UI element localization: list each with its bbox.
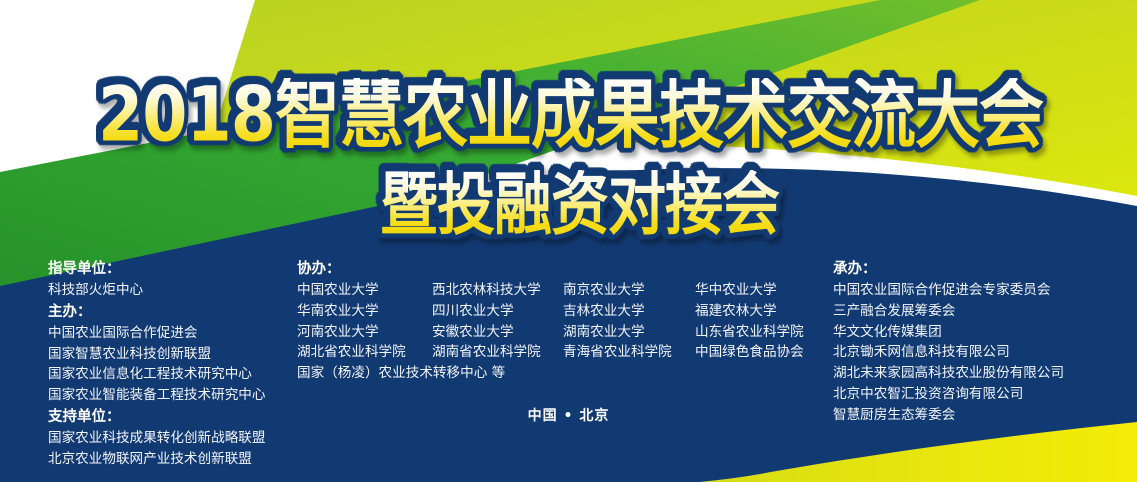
organizer-item: 中国农业国际合作促进会 (48, 323, 298, 344)
coorganizer-item: 青海省农业科学院 (563, 342, 695, 363)
coorganizer-item: 湖南农业大学 (563, 322, 695, 343)
column-guidance-organizer-support: 指导单位： 科技部火炬中心 主办： 中国农业国际合作促进会 国家智慧农业科技创新… (48, 258, 298, 470)
coorganizer-item: 南京农业大学 (563, 280, 695, 301)
coorganizer-item: 西北农林科技大学 (432, 280, 562, 301)
column-coorganizer-4: 华中农业大学 福建农林大学 山东省农业科学院 中国绿色食品协会 (695, 258, 835, 363)
coorganizer-item: 福建农林大学 (695, 301, 835, 322)
host-item: 华文文化传媒集团 (833, 322, 1133, 343)
coorganizer-item: 国家（杨凌）农业技术转移中心 等 (297, 363, 432, 384)
coorganizer-item: 湖北省农业科学院 (297, 342, 432, 363)
organizer-item: 国家农业智能装备工程技术研究中心 (48, 385, 298, 406)
coorganizer-item: 华中农业大学 (695, 280, 835, 301)
organizer-item: 国家智慧农业科技创新联盟 (48, 344, 298, 365)
column-host: 承办： 中国农业国际合作促进会专家委员会 三产融合发展筹委会 华文文化传媒集团 … (833, 258, 1133, 426)
coorganizer-item: 中国绿色食品协会 (695, 342, 835, 363)
organizer-label: 主办： (48, 301, 298, 323)
coorganizer-item: 中国农业大学 (297, 280, 432, 301)
column-coorganizer-3: 南京农业大学 吉林农业大学 湖南农业大学 青海省农业科学院 (563, 258, 695, 363)
support-item: 国家农业科技成果转化创新战略联盟 (48, 428, 298, 449)
host-item: 中国农业国际合作促进会专家委员会 (833, 280, 1133, 301)
guidance-item: 科技部火炬中心 (48, 280, 298, 301)
coorganizer-item: 安徽农业大学 (432, 322, 562, 343)
host-item: 北京锄禾网信息科技有限公司 (833, 342, 1133, 363)
host-item: 北京中农智汇投资咨询有限公司 (833, 384, 1133, 405)
column-coorganizer-2: 西北农林科技大学 四川农业大学 安徽农业大学 湖南省农业科学院 (432, 258, 562, 363)
coorganizer-item: 山东省农业科学院 (695, 322, 835, 343)
host-label: 承办： (833, 258, 1133, 280)
coorganizer-item: 河南农业大学 (297, 322, 432, 343)
column-coorganizer-1: 协办： 中国农业大学 华南农业大学 河南农业大学 湖北省农业科学院 国家（杨凌）… (297, 258, 432, 384)
coorganizer-item: 四川农业大学 (432, 301, 562, 322)
coorganizer-item: 湖南省农业科学院 (432, 342, 562, 363)
host-item: 三产融合发展筹委会 (833, 301, 1133, 322)
event-location: 中国 • 北京 (0, 405, 1137, 425)
host-item: 湖北未来家园高科技农业股份有限公司 (833, 363, 1133, 384)
organizations-section: 指导单位： 科技部火炬中心 主办： 中国农业国际合作促进会 国家智慧农业科技创新… (0, 258, 1137, 458)
conference-banner: 2018智慧农业成果技术交流大会 暨投融资对接会 指导单位： 科技部火炬中心 主… (0, 0, 1137, 482)
organizer-item: 国家农业信息化工程技术研究中心 (48, 364, 298, 385)
coorganizer-item: 吉林农业大学 (563, 301, 695, 322)
coorganizer-label: 协办： (297, 258, 432, 280)
coorganizer-item: 华南农业大学 (297, 301, 432, 322)
support-item: 北京农业物联网产业技术创新联盟 (48, 449, 298, 470)
guidance-label: 指导单位： (48, 258, 298, 280)
